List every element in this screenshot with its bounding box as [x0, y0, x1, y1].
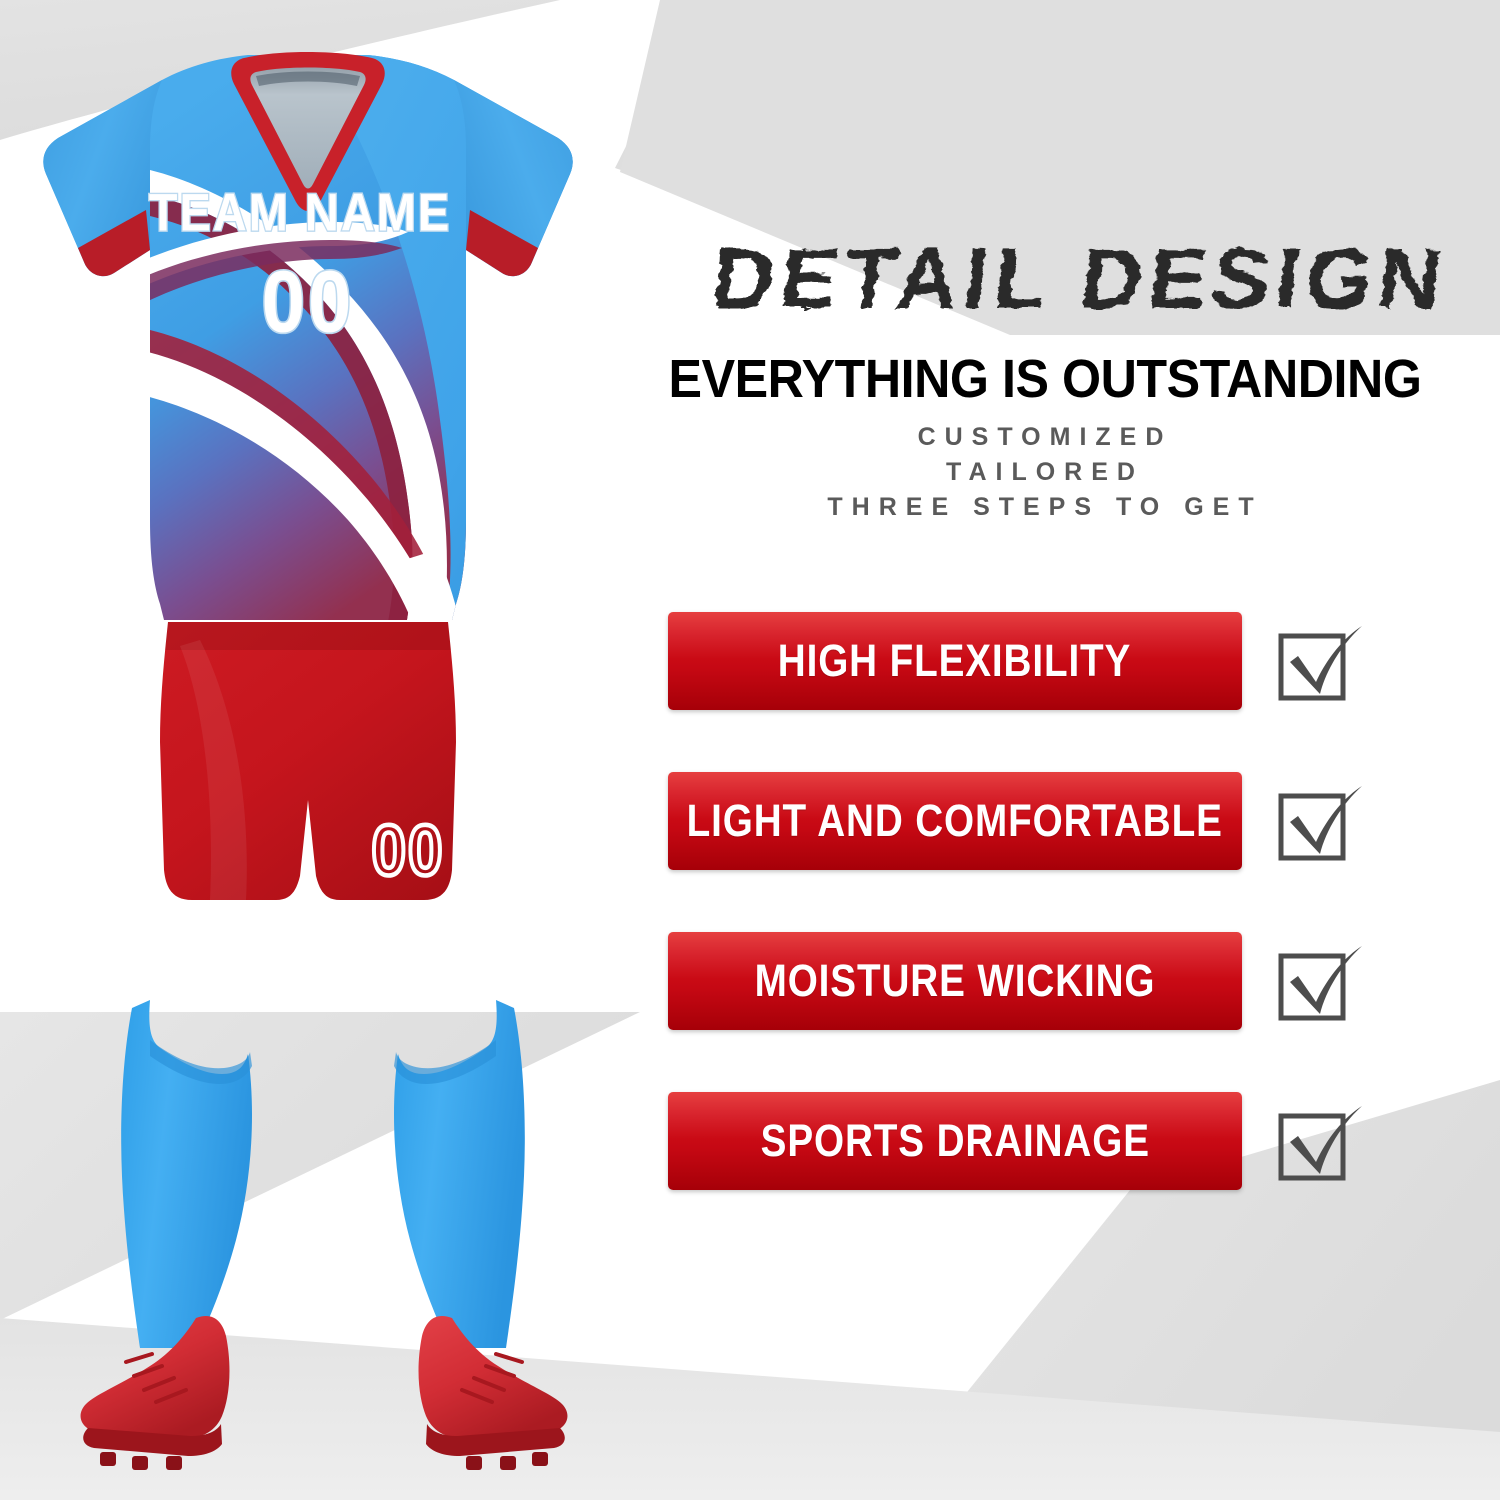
cleat-left-studs: [100, 1452, 182, 1470]
check-mark-icon: [1276, 780, 1362, 866]
check-mark-glyph: [1276, 940, 1362, 1026]
tagline-tailored: TAILORED: [600, 455, 1490, 490]
feature-row: MOISTURE WICKING: [668, 932, 1488, 1030]
feature-row: LIGHT AND COMFORTABLE: [668, 772, 1488, 870]
feature-badge-light-and-comfortable[interactable]: LIGHT AND COMFORTABLE: [668, 772, 1242, 870]
feature-badge-high-flexibility[interactable]: HIGH FLEXIBILITY: [668, 612, 1242, 710]
feature-list: HIGH FLEXIBILITY LIGHT AND COMFORTABLE: [668, 612, 1488, 1252]
feature-label: HIGH FLEXIBILITY: [778, 635, 1131, 687]
page-title: DETAIL DESIGN: [600, 228, 1480, 333]
feature-badge-sports-drainage[interactable]: SPORTS DRAINAGE: [668, 1092, 1242, 1190]
cleat-right-studs: [466, 1452, 548, 1470]
check-mark-glyph: [1276, 780, 1362, 866]
check-mark-icon: [1276, 940, 1362, 1026]
tagline-list: CUSTOMIZED TAILORED THREE STEPS TO GET: [600, 420, 1490, 525]
page-subtitle: EVERYTHING IS OUTSTANDING: [631, 348, 1459, 410]
feature-badge-moisture-wicking[interactable]: MOISTURE WICKING: [668, 932, 1242, 1030]
feature-row: SPORTS DRAINAGE: [668, 1092, 1488, 1190]
check-mark-icon: [1276, 620, 1362, 706]
jersey-number: 00: [262, 252, 355, 350]
tagline-customized: CUSTOMIZED: [600, 420, 1490, 455]
uniform-illustration: TEAM NAME 00 00: [0, 0, 620, 1500]
shorts-number: 00: [372, 812, 445, 891]
socks: [121, 1000, 525, 1348]
shorts: 00: [150, 622, 470, 900]
sock-left: [121, 1000, 252, 1348]
check-mark-icon: [1276, 1100, 1362, 1186]
feature-label: SPORTS DRAINAGE: [760, 1115, 1149, 1167]
tagline-three-steps: THREE STEPS TO GET: [600, 490, 1490, 525]
check-mark-glyph: [1276, 620, 1362, 706]
product-detail-banner: TEAM NAME 00 00: [0, 0, 1500, 1500]
check-mark-glyph: [1276, 1100, 1362, 1186]
jersey-team-name: TEAM NAME: [149, 183, 451, 242]
feature-label: LIGHT AND COMFORTABLE: [687, 795, 1223, 847]
content-column: DETAIL DESIGN EVERYTHING IS OUTSTANDING …: [600, 0, 1500, 1500]
feature-label: MOISTURE WICKING: [755, 955, 1156, 1007]
jersey: TEAM NAME 00: [43, 40, 600, 690]
feature-row: HIGH FLEXIBILITY: [668, 612, 1488, 710]
uniform-mockup: TEAM NAME 00 00: [0, 0, 620, 1500]
sock-right: [394, 1000, 525, 1348]
title-brush-text: DETAIL DESIGN: [600, 228, 1480, 333]
title-text: DETAIL DESIGN: [707, 231, 1453, 327]
